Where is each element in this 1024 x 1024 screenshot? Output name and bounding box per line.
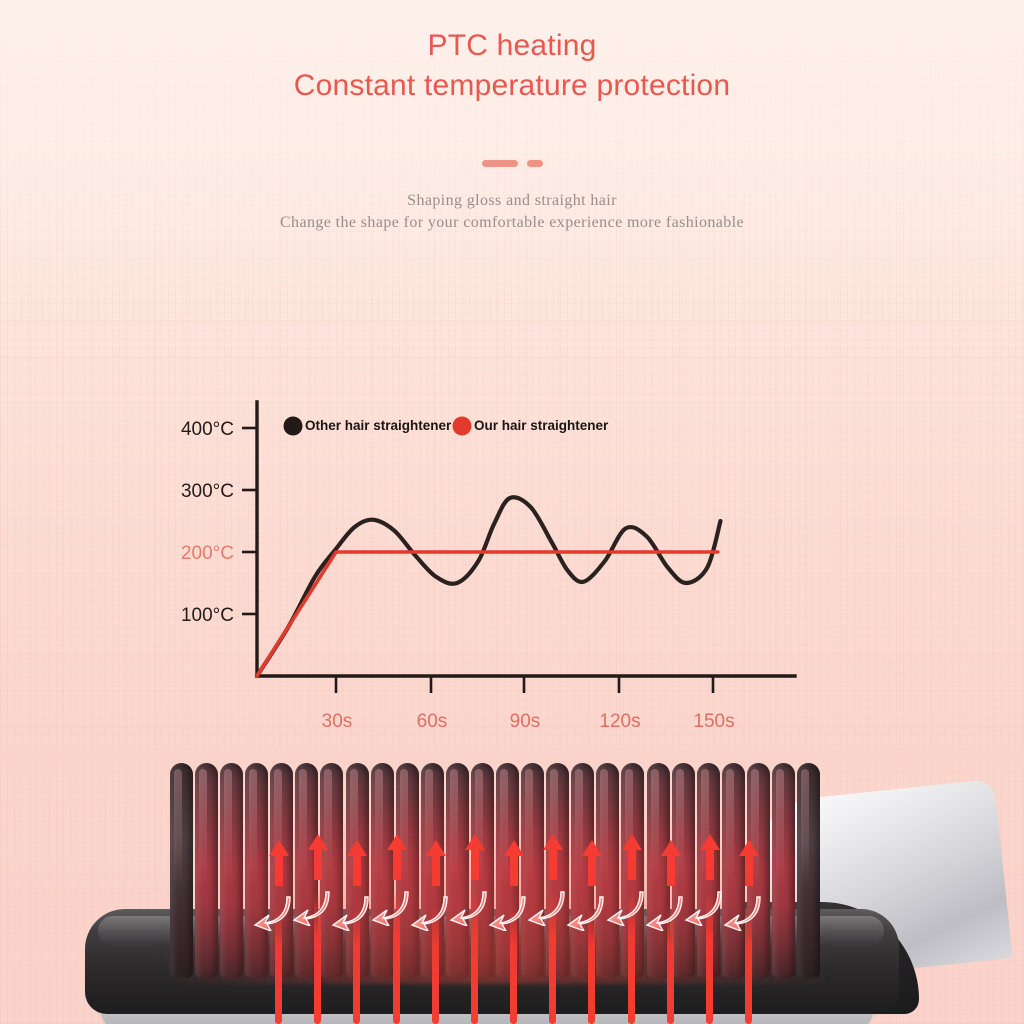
heat-arrow-up-icon <box>503 840 523 884</box>
chart-y-ticks <box>242 428 257 614</box>
heat-arrow-curl-icon <box>449 890 485 924</box>
chart-x-label-60s: 60s <box>417 711 448 732</box>
heat-arrow-curl-icon <box>410 895 446 929</box>
divider-dash-short <box>527 160 543 167</box>
chart-x-label-150s: 150s <box>693 711 734 732</box>
heat-arrow-curl-icon <box>684 890 720 924</box>
double-dash-divider-icon <box>0 160 1024 167</box>
chart-x-ticks <box>336 676 713 693</box>
comb-body <box>60 749 994 1024</box>
legend-label-ours: Our hair straightener <box>474 418 609 433</box>
heat-arrow-up-icon <box>307 834 327 878</box>
heat-arrow-curl-icon <box>253 895 289 929</box>
heat-arrow-up-icon <box>346 840 366 884</box>
subtitle-line-2: Change the shape for your comfortable ex… <box>0 212 1024 234</box>
heat-arrow-curl-icon <box>292 890 328 924</box>
temperature-comparison-chart: 400°C 300°C 200°C 100°C 30s 60s 90s 120s… <box>150 390 850 740</box>
heat-arrow-up-icon <box>386 834 406 878</box>
heat-arrow-up-icon <box>425 840 445 884</box>
heat-arrow-curl-icon <box>488 895 524 929</box>
heat-arrow-curl-icon <box>606 890 642 924</box>
chart-y-label-300: 300°C <box>181 481 234 502</box>
subtitle-line-1: Shaping gloss and straight hair <box>0 190 1024 212</box>
chart-y-label-200: 200°C <box>181 543 234 564</box>
heat-arrow-up-icon <box>738 840 758 884</box>
heat-arrow-up-icon <box>699 834 719 878</box>
legend-label-other: Other hair straightener <box>305 418 452 433</box>
heat-arrow-curl-icon <box>331 895 367 929</box>
series-line-other-hair-straightener <box>257 497 720 676</box>
product-photo-heated-comb <box>0 749 1024 1024</box>
chart-x-label-30s: 30s <box>322 711 353 732</box>
heat-glow <box>160 794 830 984</box>
chart-y-label-100: 100°C <box>181 605 234 626</box>
legend-dot-black <box>284 417 303 436</box>
heat-arrow-up-icon <box>660 840 680 884</box>
chart-x-label-90s: 90s <box>510 711 541 732</box>
heat-arrow-curl-icon <box>723 895 759 929</box>
chart-y-label-400: 400°C <box>181 419 234 440</box>
heat-arrow-up-icon <box>464 834 484 878</box>
subtitle-block: Shaping gloss and straight hair Change t… <box>0 190 1024 234</box>
heat-arrow-curl-icon <box>371 890 407 924</box>
heat-arrow-curl-icon <box>566 895 602 929</box>
heat-arrow-up-icon <box>581 840 601 884</box>
header-block: PTC heating Constant temperature protect… <box>0 26 1024 106</box>
heat-arrow-curl-icon <box>645 895 681 929</box>
heat-arrow-up-icon <box>542 834 562 878</box>
page-title-line-1: PTC heating <box>0 26 1024 66</box>
heat-arrow-up-icon <box>621 834 641 878</box>
divider-dash-long <box>482 160 518 167</box>
chart-x-label-120s: 120s <box>599 711 640 732</box>
series-line-our-hair-straightener <box>257 552 718 676</box>
chart-legend: Other hair straightener Our hair straigh… <box>284 417 610 436</box>
legend-dot-red <box>453 417 472 436</box>
page-title-line-2: Constant temperature protection <box>0 66 1024 106</box>
heat-arrow-curl-icon <box>527 890 563 924</box>
heat-arrow-up-icon <box>268 840 288 884</box>
